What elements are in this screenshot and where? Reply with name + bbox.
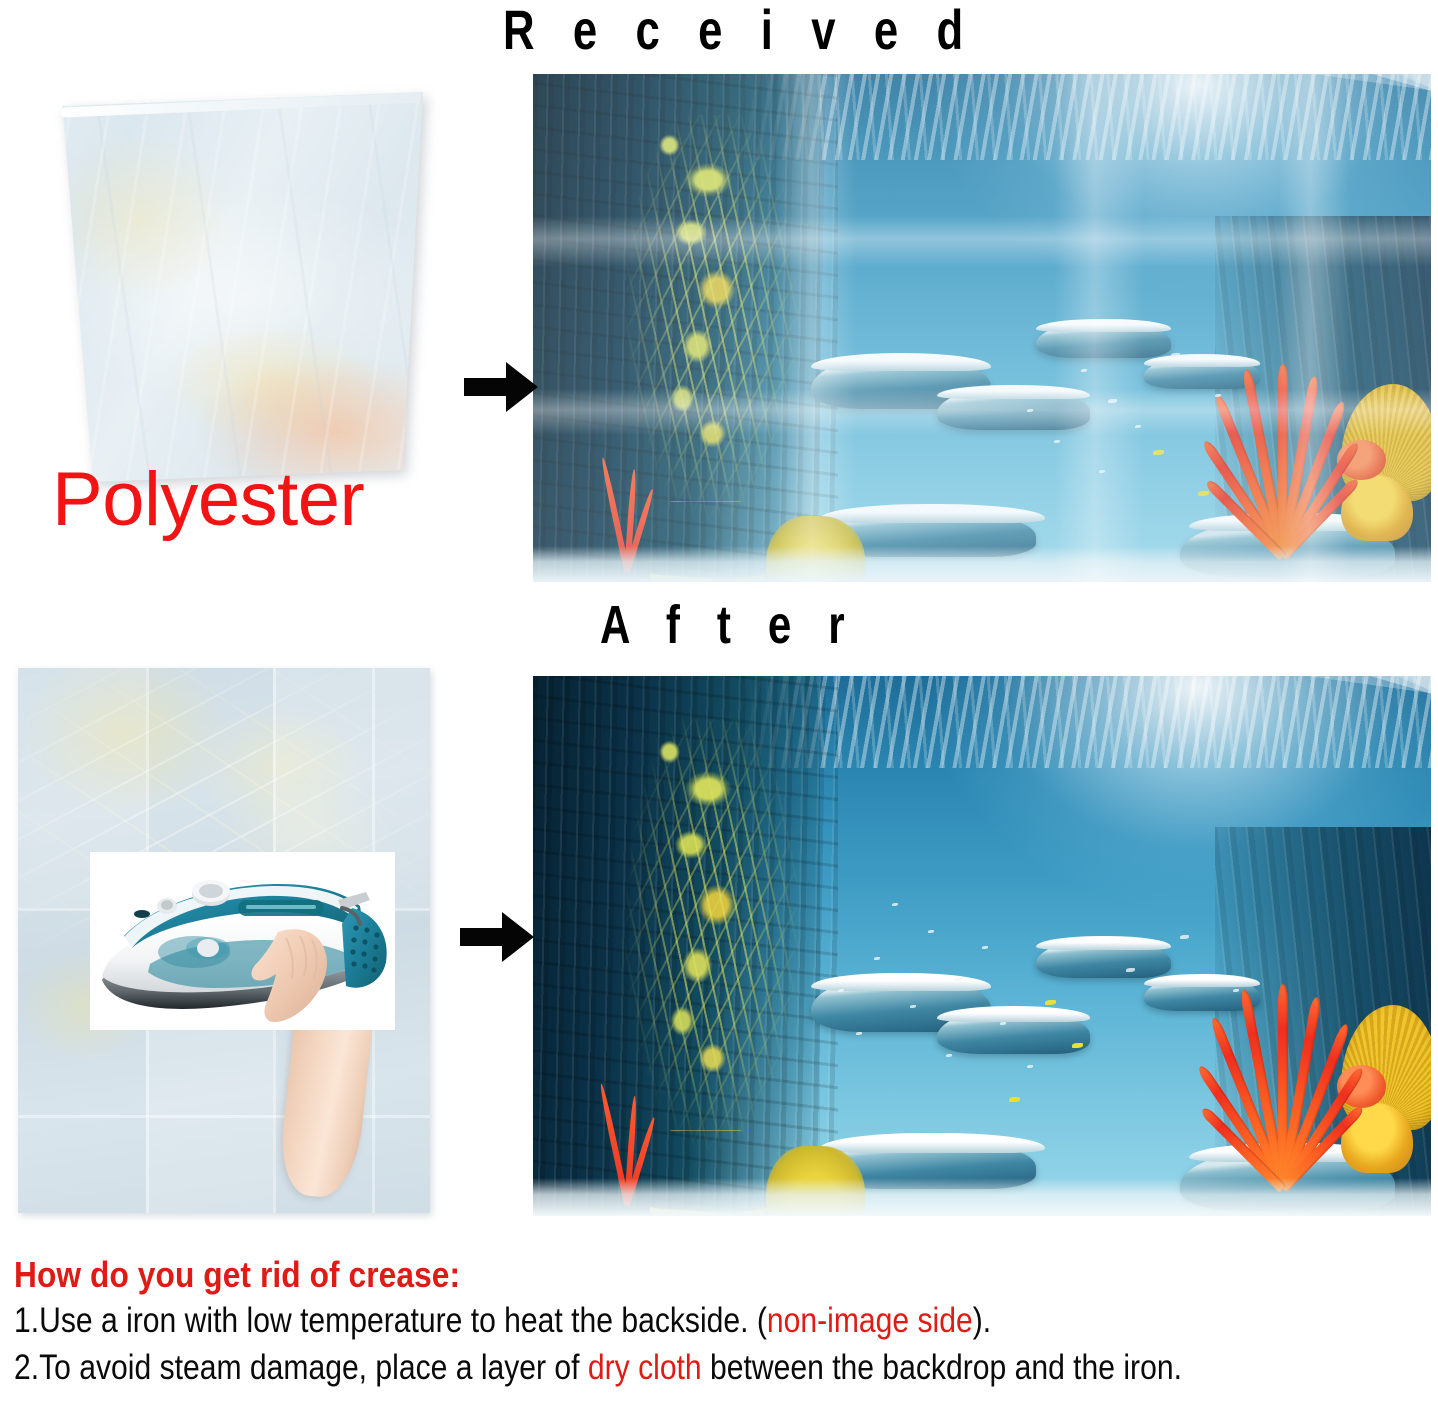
fish bbox=[982, 946, 988, 949]
received-reef-photo bbox=[533, 74, 1431, 582]
care-instruction-page: R e c e i v e d Polyester bbox=[0, 0, 1438, 1402]
fabric-sheen-texture bbox=[18, 86, 423, 486]
ledge-crest bbox=[1036, 936, 1171, 950]
fish bbox=[928, 930, 934, 933]
red-branching-coral bbox=[1216, 984, 1351, 1189]
yellow-fish bbox=[1045, 1000, 1056, 1005]
horizontal-fold-line bbox=[18, 1115, 430, 1118]
after-section-title: A f t e r bbox=[600, 598, 857, 652]
care-heading: How do you get rid of crease: bbox=[14, 1256, 1264, 1294]
right-arrow-icon bbox=[462, 358, 540, 416]
care-step-1-prefix: 1.Use a iron with low temperature to hea… bbox=[14, 1301, 767, 1340]
ledge-crest bbox=[1036, 319, 1171, 332]
iron-photo-card bbox=[90, 852, 395, 1030]
right-arrow-icon bbox=[458, 908, 536, 966]
care-step-2-prefix: 2.To avoid steam damage, place a layer o… bbox=[14, 1348, 588, 1387]
fish bbox=[1135, 425, 1141, 428]
ledge-crest bbox=[937, 385, 1090, 399]
care-step-1-highlight: non-image side bbox=[767, 1301, 973, 1340]
fish bbox=[1180, 935, 1189, 939]
fish bbox=[892, 903, 898, 906]
steam-iron-icon bbox=[90, 852, 395, 1030]
care-step-1: 1.Use a iron with low temperature to hea… bbox=[14, 1300, 1235, 1341]
fish bbox=[874, 957, 880, 960]
ledge-crest bbox=[811, 353, 991, 370]
care-step-2: 2.To avoid steam damage, place a layer o… bbox=[14, 1347, 1235, 1388]
yellow-fish bbox=[1153, 450, 1164, 455]
care-instructions: How do you get rid of crease: 1.Use a ir… bbox=[14, 1256, 1434, 1388]
sandy-seabed bbox=[533, 546, 1431, 582]
received-section-title: R e c e i v e d bbox=[503, 2, 976, 58]
fish bbox=[1054, 440, 1060, 443]
fish bbox=[1126, 968, 1135, 972]
fish bbox=[1027, 1065, 1033, 1068]
fish bbox=[1000, 1022, 1006, 1025]
yellow-fish bbox=[1198, 491, 1209, 496]
care-step-1-suffix: ). bbox=[973, 1301, 991, 1340]
care-step-2-suffix: between the backdrop and the iron. bbox=[702, 1348, 1182, 1387]
fish bbox=[1108, 399, 1117, 403]
folded-fabric-photo bbox=[18, 86, 423, 486]
ledge-crest bbox=[937, 1006, 1090, 1021]
polyester-material-label: Polyester bbox=[52, 462, 364, 538]
care-step-2-highlight: dry cloth bbox=[588, 1348, 702, 1387]
fish bbox=[1081, 369, 1087, 372]
after-reef-photo bbox=[533, 676, 1431, 1216]
red-branching-coral bbox=[1216, 364, 1351, 557]
sandy-seabed bbox=[533, 1178, 1431, 1216]
